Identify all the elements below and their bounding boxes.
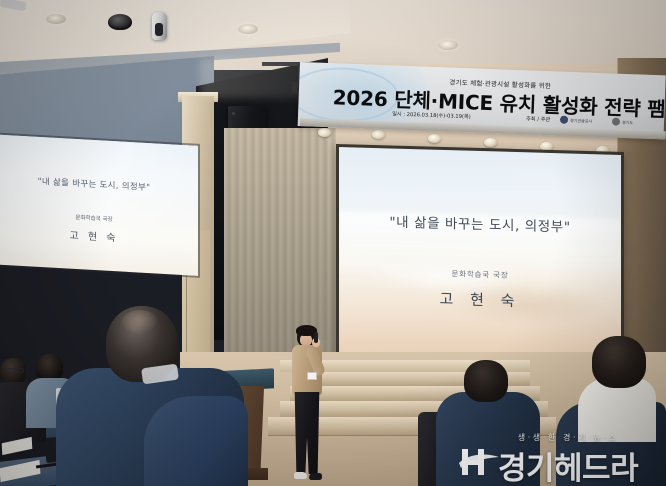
presenter-trousers <box>293 392 321 474</box>
presenter-shoe <box>309 473 322 480</box>
left-projection-screen: "내 삶을 바꾸는 도시, 의정부" 문화학습국 국장 고 현 숙 <box>0 134 198 276</box>
presenter-name-badge <box>307 372 317 380</box>
spotlight-icon <box>428 134 441 143</box>
sponsor-logo-icon <box>612 117 620 125</box>
stage-curtain-shading <box>224 128 336 356</box>
watermark: 생·생·한 경·기·뉴·스 경기헤드라인 <box>456 432 664 484</box>
presenter <box>286 326 328 486</box>
spotlight-icon <box>484 138 497 147</box>
microphone-icon <box>314 332 318 343</box>
sponsor-name-2: 경기도 <box>622 120 633 126</box>
eyeglasses-icon <box>5 368 24 373</box>
downlight-icon <box>438 40 458 50</box>
main-projection-screen: "내 삶을 바꾸는 도시, 의정부" 문화학습국 국장 고 현 숙 <box>339 147 621 367</box>
watermark-wordmark: 경기헤드라인 <box>498 443 664 486</box>
sponsor-name-1: 경기관광공사 <box>570 118 592 125</box>
audience-member-head <box>592 336 646 388</box>
spotlight-icon <box>318 128 331 137</box>
spotlight-icon <box>372 130 385 139</box>
downlight-icon <box>46 14 66 24</box>
banner-host: 주최 / 주관 <box>526 115 550 123</box>
left-screen-glow <box>0 134 198 276</box>
conference-photo: "내 삶을 바꾸는 도시, 의정부" 문화학습국 국장 고 현 숙 "내 삶을 … <box>0 0 666 486</box>
watermark-tagline: 생·생·한 경·기·뉴·스 <box>498 432 638 443</box>
foreground-attendee-shoulder <box>144 396 248 486</box>
headline-logo-icon <box>457 446 501 478</box>
foreground-attendee-crown <box>122 310 158 334</box>
sponsor-logo-icon <box>560 116 568 124</box>
presenter-shoe <box>294 472 307 479</box>
main-projection-screen-frame: "내 삶을 바꾸는 도시, 의정부" 문화학습국 국장 고 현 숙 <box>336 144 624 370</box>
audience-member-head <box>464 360 508 402</box>
security-camera-icon <box>152 12 167 40</box>
dome-camera-icon <box>108 14 132 30</box>
